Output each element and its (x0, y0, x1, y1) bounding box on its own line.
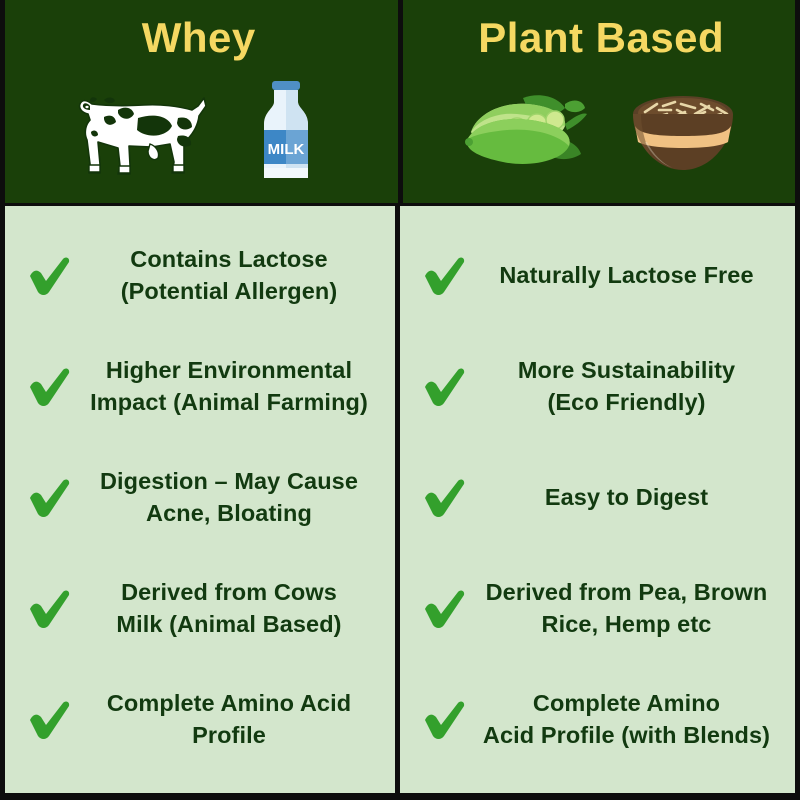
header-band: Whey (0, 0, 800, 206)
list-item: Naturally Lactose Free (400, 230, 795, 322)
column-title-plant-based: Plant Based (478, 14, 724, 62)
list-item-line: More Sustainability (476, 355, 777, 386)
list-item-line: (Potential Allergen) (81, 276, 377, 307)
list-item-line: Complete Amino Acid (81, 688, 377, 719)
feature-list-whey: Contains Lactose (Potential Allergen) Hi… (5, 206, 400, 793)
list-item: Complete Amino Acid Profile (5, 674, 395, 766)
list-item-label: Contains Lactose (Potential Allergen) (81, 244, 383, 306)
list-item-line: Derived from Pea, Brown (476, 577, 777, 608)
check-icon (414, 589, 476, 629)
column-title-whey: Whey (142, 14, 256, 62)
list-item-line: Acne, Bloating (81, 498, 377, 529)
svg-text:MILK: MILK (267, 141, 304, 158)
check-icon (414, 256, 476, 296)
check-icon (19, 700, 81, 740)
check-icon (414, 478, 476, 518)
check-icon (414, 367, 476, 407)
list-item-line: Milk (Animal Based) (81, 609, 377, 640)
list-item: Contains Lactose (Potential Allergen) (5, 230, 395, 322)
header-column-whey: Whey (0, 0, 403, 203)
list-item-label: More Sustainability (Eco Friendly) (476, 355, 783, 417)
list-item-line: Profile (81, 720, 377, 751)
list-item: Easy to Digest (400, 452, 795, 544)
list-item-label: Higher Environmental Impact (Animal Farm… (81, 355, 383, 417)
list-item-line: Impact (Animal Farming) (81, 387, 377, 418)
header-icons-whey: MILK (0, 62, 398, 203)
header-icons-plant-based (403, 62, 800, 203)
list-item-line: Complete Amino (476, 688, 777, 719)
list-item: More Sustainability (Eco Friendly) (400, 341, 795, 433)
list-item-line: Naturally Lactose Free (476, 260, 777, 291)
list-item-line: Higher Environmental (81, 355, 377, 386)
list-item-line: Easy to Digest (476, 482, 777, 513)
feature-list-plant-based: Naturally Lactose Free More Sustainabili… (400, 206, 795, 793)
list-item-label: Complete Amino Acid Profile (with Blends… (476, 688, 783, 750)
check-icon (19, 589, 81, 629)
list-item-label: Complete Amino Acid Profile (81, 688, 383, 750)
comparison-infographic: Whey (0, 0, 800, 800)
rice-bowl-icon (625, 84, 741, 176)
list-item: Complete Amino Acid Profile (with Blends… (400, 674, 795, 766)
check-icon (414, 700, 476, 740)
list-item-line: Acid Profile (with Blends) (476, 720, 777, 751)
check-icon (19, 256, 81, 296)
list-item: Derived from Pea, Brown Rice, Hemp etc (400, 563, 795, 655)
check-icon (19, 367, 81, 407)
list-item: Higher Environmental Impact (Animal Farm… (5, 341, 395, 433)
list-item-line: Contains Lactose (81, 244, 377, 275)
list-item-label: Digestion – May Cause Acne, Bloating (81, 466, 383, 528)
check-icon (19, 478, 81, 518)
list-item-label: Easy to Digest (476, 482, 783, 513)
list-item-line: (Eco Friendly) (476, 387, 777, 418)
milk-bottle-icon: MILK (248, 78, 324, 182)
list-item-label: Naturally Lactose Free (476, 260, 783, 291)
list-item-line: Derived from Cows (81, 577, 377, 608)
pea-pod-icon (461, 80, 591, 180)
header-column-plant-based: Plant Based (403, 0, 800, 203)
list-item: Digestion – May Cause Acne, Bloating (5, 452, 395, 544)
list-item: Derived from Cows Milk (Animal Based) (5, 563, 395, 655)
list-item-label: Derived from Pea, Brown Rice, Hemp etc (476, 577, 783, 639)
cow-icon (74, 80, 214, 180)
list-item-label: Derived from Cows Milk (Animal Based) (81, 577, 383, 639)
comparison-body: Contains Lactose (Potential Allergen) Hi… (5, 206, 795, 793)
list-item-line: Digestion – May Cause (81, 466, 377, 497)
list-item-line: Rice, Hemp etc (476, 609, 777, 640)
